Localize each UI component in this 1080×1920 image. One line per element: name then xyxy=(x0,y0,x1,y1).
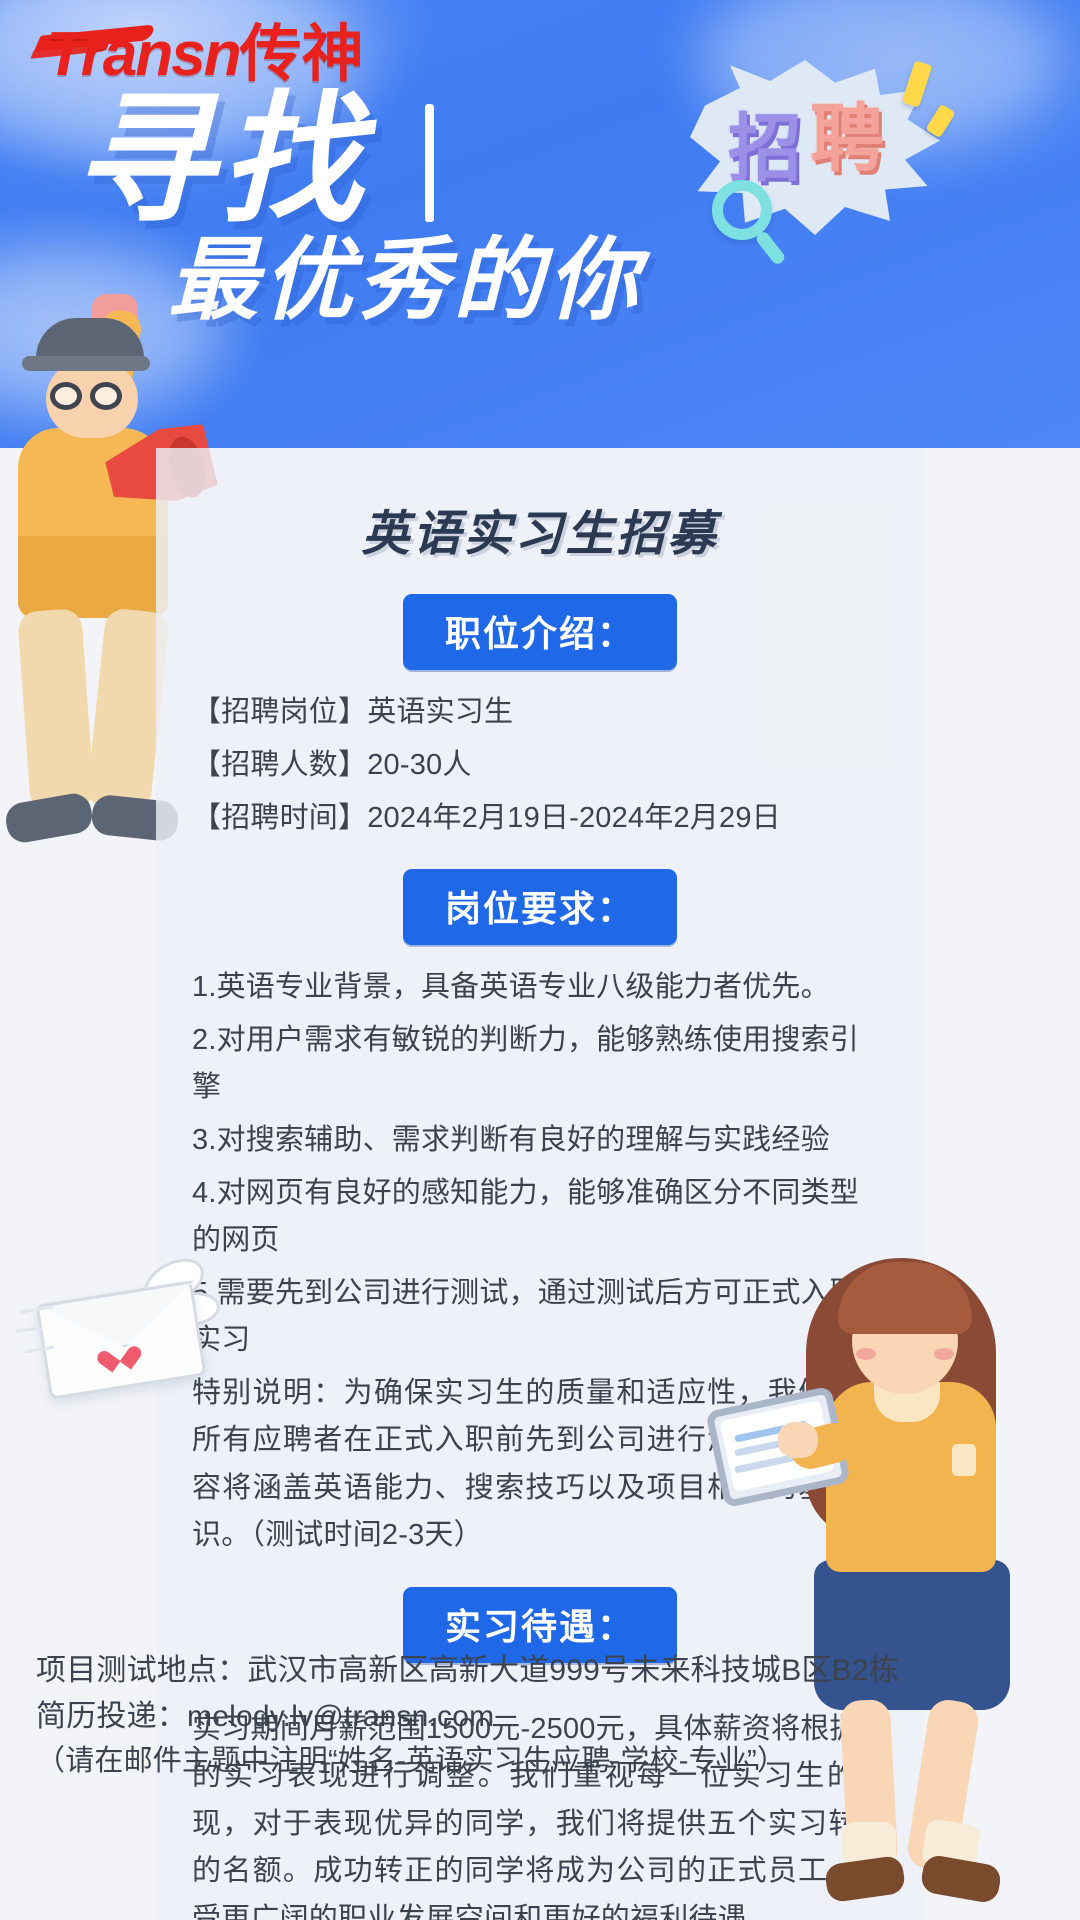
recruitment-3d-badge: 招 聘 xyxy=(660,40,960,250)
mascot-shoe xyxy=(824,1855,907,1903)
section-badge-label: 岗位要求： xyxy=(403,869,677,945)
email-subject-note: （请在邮件主题中注明“姓名-英语实习生应聘-学校-专业”） xyxy=(36,1739,1040,1783)
mascot-leg xyxy=(17,608,95,812)
mascot-cheek xyxy=(856,1348,876,1360)
requirement-item: 2.对用户需求有敏锐的判断力，能够熟练使用搜索引擎 xyxy=(192,1014,888,1114)
mascot-tablet-person xyxy=(756,1230,1080,1920)
section-header-requirements: 岗位要求： xyxy=(156,869,924,945)
job-intro-line: 【招聘人数】20-30人 xyxy=(192,739,888,792)
section-badge-label: 职位介绍： xyxy=(403,594,677,670)
motion-line xyxy=(16,1326,42,1333)
job-intro-line: 【招聘岗位】英语实习生 xyxy=(192,686,888,739)
job-intro-body: 【招聘岗位】英语实习生 【招聘人数】20-30人 【招聘时间】2024年2月19… xyxy=(156,684,924,845)
requirement-item: 1.英语专业背景，具备英语专业八级能力者优先。 xyxy=(192,961,888,1014)
spark-icon xyxy=(925,104,955,138)
recruitment-poster: Transn传神 寻找 最优秀的你 招 聘 英语实习生招 xyxy=(0,0,1080,1920)
brand-logo: Transn传神 xyxy=(46,24,364,86)
badge-char-pin: 聘 xyxy=(810,102,884,176)
mascot-body-shade xyxy=(18,536,168,618)
poster-footer: 项目测试地点：武汉市高新区高新大道999号未来科技城B区B2栋 简历投递：mel… xyxy=(0,1648,1080,1783)
spark-icon xyxy=(902,60,933,107)
test-location-line: 项目测试地点：武汉市高新区高新大道999号未来科技城B区B2栋 xyxy=(36,1648,1040,1694)
requirement-item: 3.对搜索辅助、需求判断有良好的理解与实践经验 xyxy=(192,1114,888,1167)
magnifier-handle-icon xyxy=(754,230,786,266)
mascot-glasses-lens xyxy=(90,382,122,410)
resume-email-line[interactable]: 简历投递：melody.lv@transn.com xyxy=(36,1694,1040,1740)
job-intro-line: 【招聘时间】2024年2月19日-2024年2月29日 xyxy=(192,792,888,845)
mascot-hat-brim xyxy=(22,356,150,371)
page-title: 英语实习生招募 xyxy=(156,448,924,570)
headline-primary: 寻找 xyxy=(72,90,368,232)
heart-icon xyxy=(106,1342,136,1372)
brand-logo-latin: Transn xyxy=(46,20,240,89)
headline-divider-bar xyxy=(425,104,434,222)
winged-envelope-icon xyxy=(16,1258,236,1408)
mascot-glasses-lens xyxy=(50,382,82,410)
mascot-name-badge xyxy=(952,1444,976,1476)
section-header-job-intro: 职位介绍： xyxy=(156,594,924,670)
mascot-hand xyxy=(778,1422,818,1458)
brand-logo-chinese: 传神 xyxy=(240,20,364,89)
badge-char-zhao: 招 xyxy=(728,112,802,186)
mascot-shoe xyxy=(3,791,95,845)
mascot-shoe xyxy=(919,1854,1002,1905)
mascot-cheek xyxy=(934,1348,954,1360)
